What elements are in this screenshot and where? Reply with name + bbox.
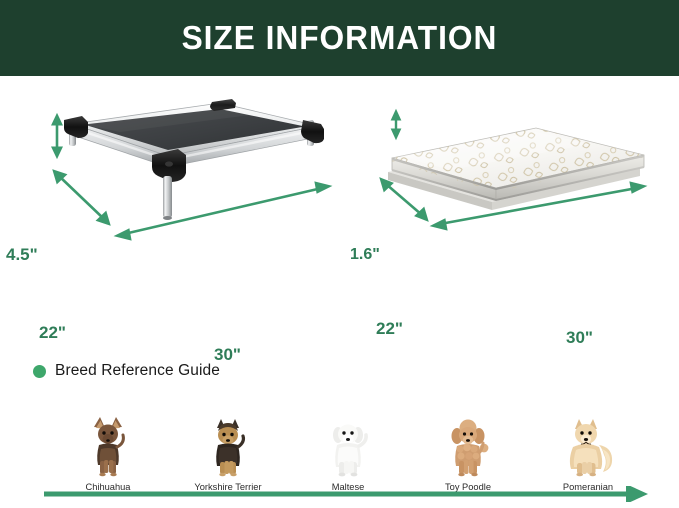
cot-front-legs xyxy=(163,176,172,220)
mattress-illustration xyxy=(340,76,679,306)
yorkshire-terrier-photo xyxy=(200,413,256,477)
maltese-photo xyxy=(320,413,376,477)
dimension-arrow-width xyxy=(115,182,331,240)
breed-item-toy-poodle: Toy Poodle xyxy=(408,404,528,492)
breed-item-maltese: Maltese xyxy=(288,404,408,492)
chihuahua-photo xyxy=(80,413,136,477)
filled-circle-icon xyxy=(33,365,46,378)
breed-list: Chihuahua xyxy=(48,404,648,492)
breed-guide-heading: Breed Reference Guide xyxy=(33,362,220,380)
breed-guide-title: Breed Reference Guide xyxy=(55,362,220,380)
mattress-depth-label: 22" xyxy=(376,319,403,339)
breed-item-chihuahua: Chihuahua xyxy=(48,404,168,492)
cot-frame-top xyxy=(72,103,318,156)
dimension-arrow-depth xyxy=(53,170,110,225)
dimension-arrow-height xyxy=(52,114,62,158)
product-panel-cot: 4.5" 22" 30" xyxy=(0,76,340,306)
mattress-height-label: 1.6" xyxy=(350,246,380,264)
page-title: SIZE INFORMATION xyxy=(182,19,498,57)
cot-height-label: 4.5" xyxy=(6,245,38,265)
header-banner: SIZE INFORMATION xyxy=(0,0,679,76)
pomeranian-photo xyxy=(557,413,619,477)
cot-depth-label: 22" xyxy=(39,323,66,343)
size-information-infographic: SIZE INFORMATION xyxy=(0,0,679,508)
mattress-width-label: 30" xyxy=(566,328,593,348)
right-arrow-icon xyxy=(44,486,650,502)
size-progression-arrow xyxy=(44,486,650,502)
product-panel-mattress: 1.6" 22" 30" xyxy=(340,76,679,306)
dimension-arrow-height xyxy=(391,110,400,139)
breed-item-pomeranian: Pomeranian xyxy=(528,404,648,492)
cot-illustration xyxy=(0,76,340,306)
toy-poodle-photo xyxy=(439,413,497,477)
breed-item-yorkshire-terrier: Yorkshire Terrier xyxy=(168,404,288,492)
